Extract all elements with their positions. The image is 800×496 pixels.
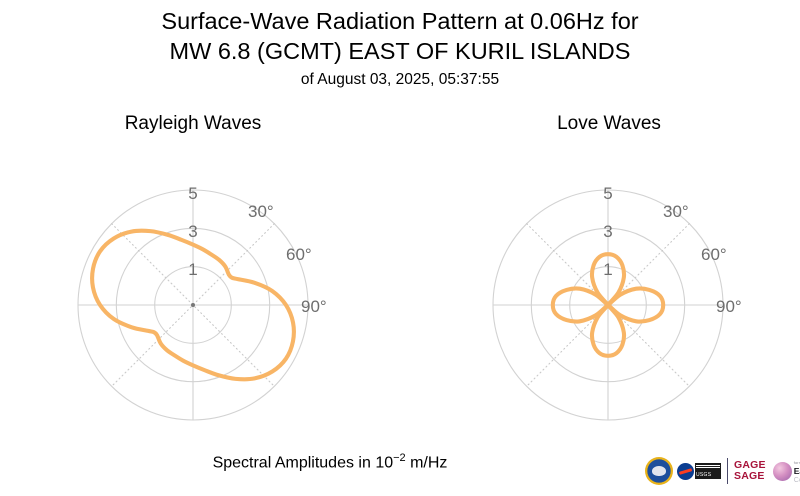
caption-exponent: −2: [393, 452, 406, 464]
love-angle-tick-labels: 30° 60° 90°: [663, 202, 742, 316]
rayleigh-angle-tick-labels: 30° 60° 90°: [248, 202, 327, 316]
love-radial-tick-labels: 5 3 1: [603, 184, 612, 279]
nasa-usgs-logo-group: [677, 463, 721, 480]
angle-tick-label-60: 60°: [286, 245, 312, 264]
angle-tick-label-90: 90°: [716, 297, 742, 316]
angle-tick-label-30: 30°: [663, 202, 689, 221]
angle-tick-label-60: 60°: [701, 245, 727, 264]
rayleigh-panel-title: Rayleigh Waves: [43, 113, 343, 135]
caption-prefix: Spectral Amplitudes in 10: [213, 454, 394, 471]
radial-tick-label-3: 3: [188, 222, 197, 241]
love-polar-svg: 5 3 1 30° 60° 90°: [458, 155, 758, 455]
sage-label: SAGE: [734, 471, 766, 482]
angle-tick-label-30: 30°: [248, 202, 274, 221]
radial-tick-label-1: 1: [603, 260, 612, 279]
gage-sage-logo: GAGE SAGE: [734, 460, 766, 482]
love-polar-chart: 5 3 1 30° 60° 90°: [458, 155, 758, 455]
rayleigh-polar-chart: 5 3 1 30° 60° 90°: [43, 155, 343, 455]
earthscope-sphere-icon: [773, 462, 792, 481]
page-subtitle: of August 03, 2025, 05:37:55: [0, 68, 800, 92]
angle-tick-label-90: 90°: [301, 297, 327, 316]
page-title-line-1: Surface-Wave Radiation Pattern at 0.06Hz…: [0, 6, 800, 36]
nsf-logo-icon: [645, 457, 673, 485]
earthscope-title-label: EarthScope: [794, 467, 800, 476]
center-dot: [191, 303, 195, 307]
caption-suffix: m/Hz: [406, 454, 448, 471]
radial-tick-label-1: 1: [188, 260, 197, 279]
radial-tick-label-3: 3: [603, 222, 612, 241]
nasa-meatball-icon: [677, 463, 694, 480]
usgs-logo-icon: [695, 463, 721, 479]
title-block: Surface-Wave Radiation Pattern at 0.06Hz…: [0, 6, 800, 92]
love-panel-title: Love Waves: [459, 113, 759, 135]
earthscope-consortium-label: Consortium: [794, 476, 800, 485]
footer-caption: Spectral Amplitudes in 10−2 m/Hz: [0, 452, 660, 472]
earthscope-text: formerly EarthScope Consortium: [794, 458, 800, 485]
page-title-line-2: MW 6.8 (GCMT) EAST OF KURIL ISLANDS: [0, 36, 800, 66]
radial-tick-label-5: 5: [603, 184, 612, 203]
logo-bar: GAGE SAGE formerly EarthScope Consortium: [645, 452, 795, 490]
rayleigh-polar-svg: 5 3 1 30° 60° 90°: [43, 155, 343, 455]
radial-tick-label-5: 5: [188, 184, 197, 203]
earthscope-logo: formerly EarthScope Consortium: [773, 458, 800, 485]
rayleigh-radial-tick-labels: 5 3 1: [188, 184, 197, 279]
logo-divider: [727, 458, 728, 484]
